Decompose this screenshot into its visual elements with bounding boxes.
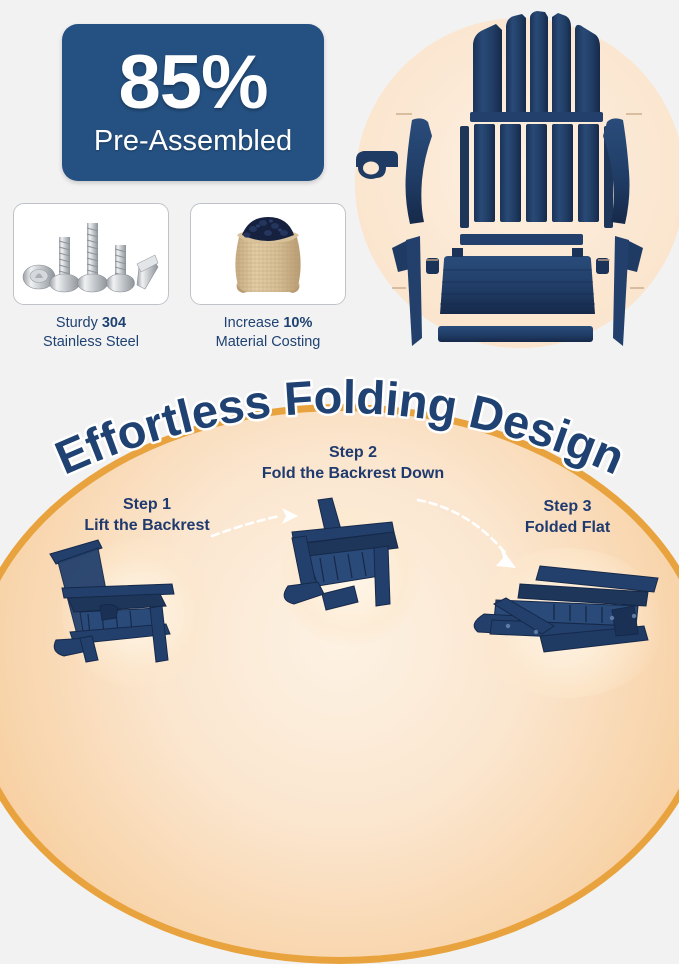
step-2-label: Step 2 Fold the Backrest Down xyxy=(243,443,463,483)
step-3-label: Step 3 Folded Flat xyxy=(480,497,655,537)
step-3-desc: Folded Flat xyxy=(480,518,655,537)
pre-assembled-badge: 85% Pre-Assembled xyxy=(62,24,324,181)
step-2-number: Step 2 xyxy=(243,443,463,462)
badge-subtitle: Pre-Assembled xyxy=(94,125,292,158)
left-armrest xyxy=(406,118,433,224)
exploded-chair-illustration xyxy=(350,8,679,358)
backrest-slats xyxy=(473,11,600,116)
feature-image-box xyxy=(13,203,169,305)
front-rail xyxy=(438,326,593,342)
feature-stainless-steel: Sturdy 304 Stainless Steel xyxy=(13,203,169,352)
feature-caption: Sturdy 304 Stainless Steel xyxy=(13,314,169,352)
stainless-screws-icon xyxy=(21,211,161,297)
caption-highlight: 304 xyxy=(102,315,126,331)
caption-line2: Stainless Steel xyxy=(43,334,139,350)
step-1-number: Step 1 xyxy=(52,495,242,514)
arrow-head-1 xyxy=(282,508,298,524)
caption-prefix: Increase xyxy=(224,315,284,331)
screw-tall xyxy=(78,223,108,292)
seat-rail xyxy=(460,234,583,245)
feature-image-box xyxy=(190,203,346,305)
lower-back-slats xyxy=(474,124,599,222)
step-1-label: Step 1 Lift the Backrest xyxy=(52,495,242,535)
feature-caption: Increase 10% Material Costing xyxy=(190,314,346,352)
cup-holder-part xyxy=(356,151,398,179)
infographic-canvas: 85% Pre-Assembled xyxy=(0,0,679,679)
right-leg xyxy=(613,236,629,346)
upper-brace xyxy=(470,112,603,122)
bolt-angled xyxy=(137,255,158,289)
feature-material-costing: Increase 10% Material Costing xyxy=(190,203,346,352)
step-3-number: Step 3 xyxy=(480,497,655,516)
screw-short xyxy=(107,245,135,292)
material-sack-icon xyxy=(213,209,323,299)
seat-assembly xyxy=(440,248,595,314)
navy-pellets xyxy=(242,217,294,241)
step-1-desc: Lift the Backrest xyxy=(52,516,242,535)
screw-medium xyxy=(50,237,80,292)
arrow-head-2 xyxy=(496,546,516,568)
caption-prefix: Sturdy xyxy=(56,315,102,331)
caption-line2: Material Costing xyxy=(216,334,321,350)
caption-highlight: 10% xyxy=(283,315,312,331)
left-leg xyxy=(406,236,422,346)
badge-percent: 85% xyxy=(118,47,267,119)
step-2-desc: Fold the Backrest Down xyxy=(243,464,463,483)
